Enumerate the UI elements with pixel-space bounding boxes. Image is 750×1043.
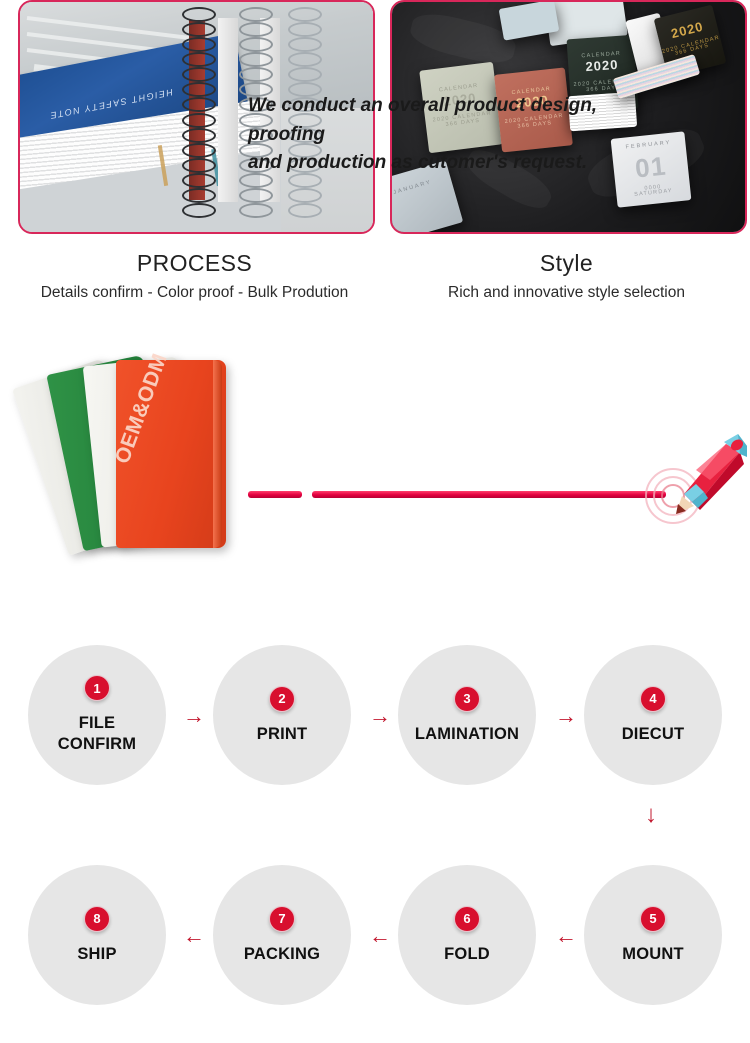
flow-badge-7: 7 — [269, 906, 295, 932]
flow-label-diecut: DIECUT — [622, 724, 685, 745]
flow-label-fold: FOLD — [444, 944, 490, 965]
flow-arrow-right-2: → — [369, 705, 391, 727]
feature-subtitle-process: Details confirm - Color proof - Bulk Pro… — [18, 284, 371, 302]
banner-statement: We conduct an overall product design, pr… — [248, 92, 678, 178]
flow-node-ship[interactable]: 8 SHIP — [28, 865, 166, 1005]
banner-statement-line1: We conduct an overall product design, pr… — [248, 92, 678, 149]
flow-label-lamination: LAMINATION — [415, 724, 519, 745]
flow-arrow-left-2: ← — [369, 925, 391, 947]
flow-node-lamination[interactable]: 3 LAMINATION — [398, 645, 536, 785]
underline-rule — [334, 491, 666, 498]
flow-arrow-right-3: → — [555, 705, 577, 727]
flow-badge-6: 6 — [454, 906, 480, 932]
flow-badge-2: 2 — [269, 686, 295, 712]
feature-title-process: PROCESS — [18, 250, 371, 277]
banner-statement-line2: and production as cutomer's request. — [248, 149, 678, 178]
flow-node-mount[interactable]: 5 MOUNT — [584, 865, 722, 1005]
flow-node-print[interactable]: 2 PRINT — [213, 645, 351, 785]
flow-arrow-left-3: ← — [555, 925, 577, 947]
flow-node-diecut[interactable]: 4 DIECUT — [584, 645, 722, 785]
oem-odm-banner: OEM&ODM — [0, 330, 750, 580]
flow-label-packing: PACKING — [244, 944, 320, 965]
flow-badge-1: 1 — [84, 675, 110, 701]
dash-segment-1 — [248, 491, 302, 498]
flow-badge-3: 3 — [454, 686, 480, 712]
flow-node-packing[interactable]: 7 PACKING — [213, 865, 351, 1005]
feature-title-style: Style — [390, 250, 743, 277]
flow-arrow-down: ↓ — [645, 803, 657, 827]
flow-label-mount: MOUNT — [622, 944, 684, 965]
flow-badge-4: 4 — [640, 686, 666, 712]
flow-badge-8: 8 — [84, 906, 110, 932]
flow-arrow-left-1: ← — [183, 925, 205, 947]
promo-page: HEIGHT SAFETY NOTE — [0, 0, 750, 1043]
flow-label-print: PRINT — [257, 724, 308, 745]
flow-label-ship: SHIP — [77, 944, 116, 965]
pencil-icon — [648, 424, 748, 524]
feature-subtitle-style: Rich and innovative style selection — [390, 284, 743, 302]
flow-arrow-right-1: → — [183, 705, 205, 727]
flow-badge-5: 5 — [640, 906, 666, 932]
notebook-fan-image: OEM&ODM — [30, 355, 245, 555]
flow-label-file-confirm: FILECONFIRM — [58, 713, 136, 754]
flow-node-file-confirm[interactable]: 1 FILECONFIRM — [28, 645, 166, 785]
flow-node-fold[interactable]: 6 FOLD — [398, 865, 536, 1005]
production-flow-diagram: 1 FILECONFIRM → 2 PRINT → 3 LAMINATION →… — [0, 620, 750, 1043]
